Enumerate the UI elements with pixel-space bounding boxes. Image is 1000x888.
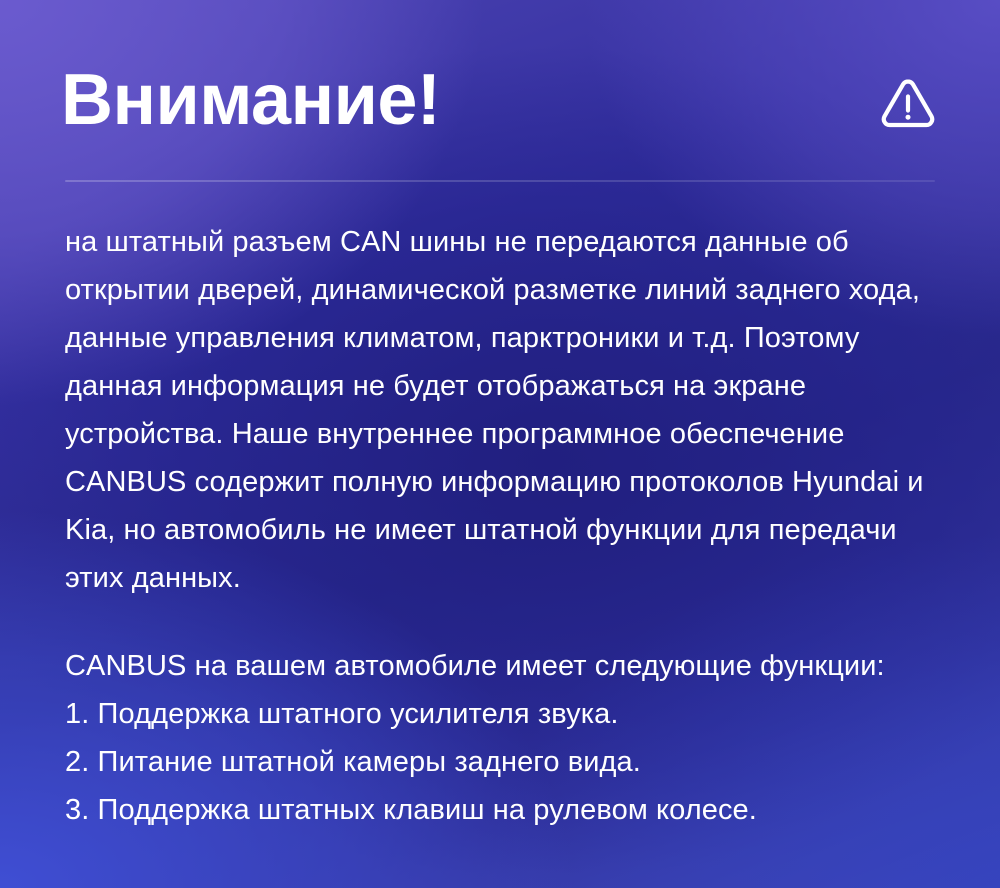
warning-triangle-icon	[879, 74, 937, 132]
features-block: CANBUS на вашем автомобиле имеет следующ…	[65, 642, 937, 834]
features-heading: CANBUS на вашем автомобиле имеет следующ…	[65, 642, 937, 690]
banner-header: Внимание!	[65, 52, 937, 148]
intro-paragraph: на штатный разъем CAN шины не передаются…	[65, 218, 943, 602]
warning-notice-banner: Внимание! на штатный разъем CAN шины не …	[0, 0, 1000, 888]
page-title: Внимание!	[61, 52, 440, 148]
feature-item-1: 1. Поддержка штатного усилителя звука.	[65, 690, 937, 738]
feature-item-3: 3. Поддержка штатных клавиш на рулевом к…	[65, 786, 937, 834]
banner-body: на штатный разъем CAN шины не передаются…	[65, 218, 937, 834]
feature-item-2: 2. Питание штатной камеры заднего вида.	[65, 738, 937, 786]
header-divider	[65, 180, 935, 182]
